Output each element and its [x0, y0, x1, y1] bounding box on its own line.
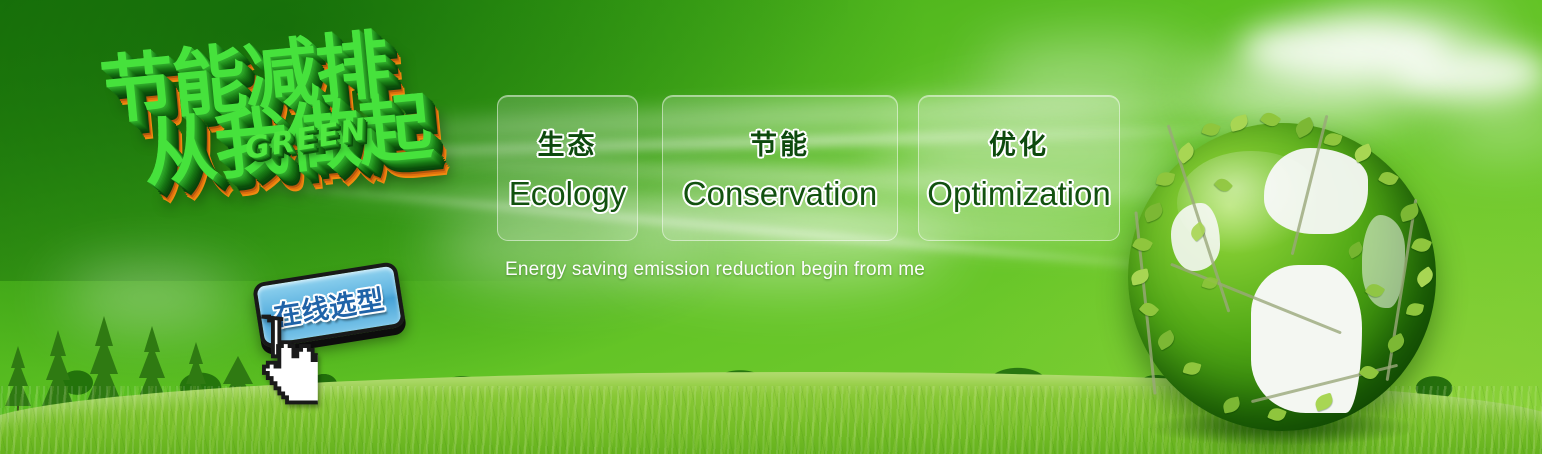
- feature-cards: 生态 Ecology 节能 Conservation 优化 Optimizati…: [497, 95, 1120, 241]
- feature-card-en-label: Ecology: [509, 175, 626, 213]
- continent-south-america: [1251, 265, 1362, 413]
- feature-card-conservation[interactable]: 节能 Conservation: [662, 95, 898, 241]
- green-globe: [1128, 123, 1436, 431]
- feature-card-en-label: Conservation: [683, 175, 877, 213]
- feature-card-ecology[interactable]: 生态 Ecology: [497, 95, 638, 241]
- feature-card-optimization[interactable]: 优化 Optimization: [918, 95, 1120, 241]
- headline-char: 从: [140, 111, 219, 192]
- feature-card-cn-label: 节能: [750, 123, 810, 162]
- continent-africa-edge: [1362, 215, 1405, 307]
- feature-card-cn-label: 生态: [538, 123, 598, 162]
- green-energy-banner: 节 能 减 排 从 我 做 起 GREEN 在线选型 生态 Ecology 节能…: [0, 0, 1542, 454]
- headline-3d: 节 能 减 排 从 我 做 起 GREEN: [85, 16, 526, 295]
- feature-card-en-label: Optimization: [927, 175, 1110, 213]
- feature-card-cn-label: 优化: [989, 123, 1049, 162]
- banner-subtitle: Energy saving emission reduction begin f…: [505, 259, 925, 281]
- hand-pointer-icon: [236, 311, 318, 407]
